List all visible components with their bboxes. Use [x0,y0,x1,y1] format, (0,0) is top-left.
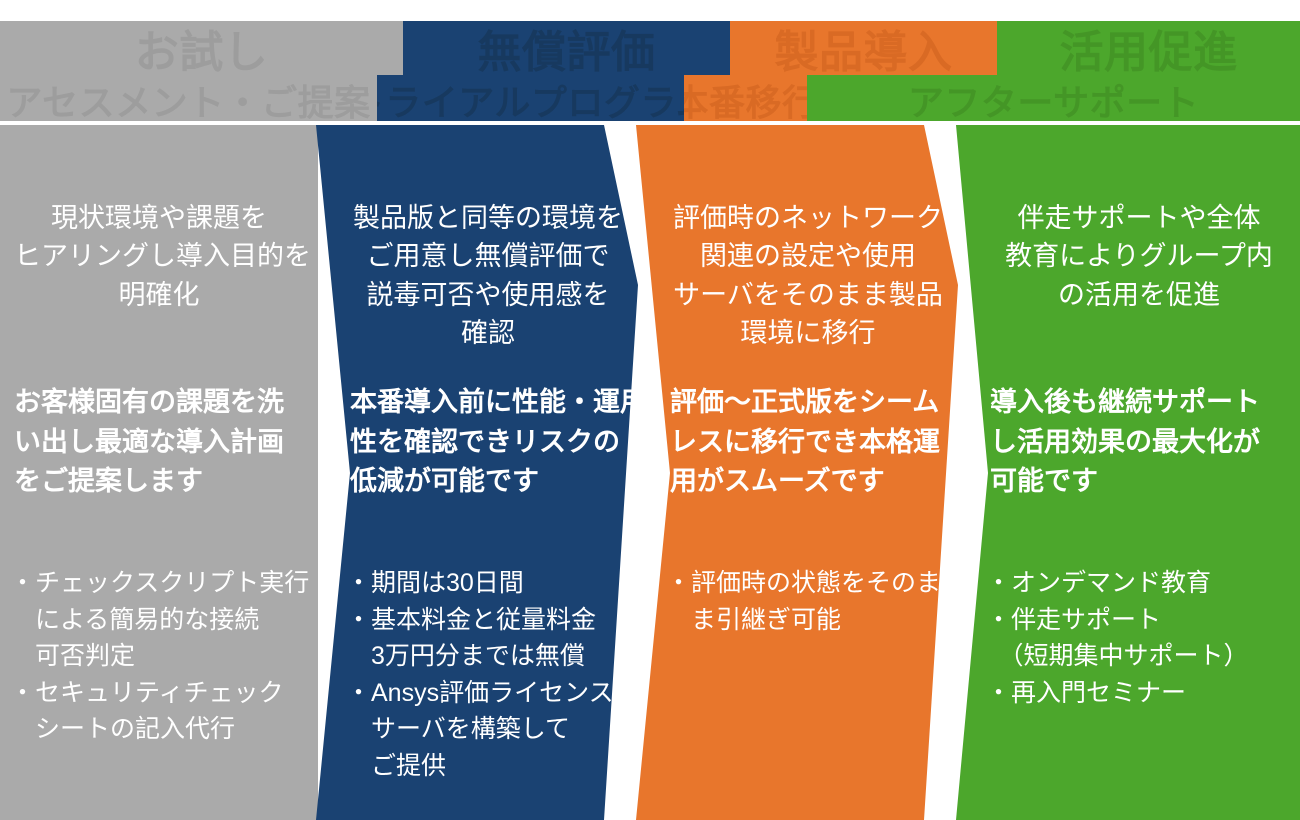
header-program-production: 本番移行 [684,75,807,125]
benefit-block: お客様固有の課題を洗 い出し最適な導入計画 をご提案します [0,383,318,502]
summary-line: 関連の設定や使用 [670,237,946,275]
benefit-block: 本番導入前に性能・運用 性を確認できリスクの 低減が可能です [316,383,638,502]
summary-block: 現状環境や課題を ヒアリングし導入目的を 明確化 [14,199,304,314]
summary-line: 評価時のネットワーク [670,199,946,237]
header-program-trial: トライアルプログラム [377,75,684,125]
benefit-line: 低減が可能です [350,462,628,502]
summary-line: サーバをそのまま製品 [670,276,946,314]
summary-line: 現状環境や課題を [14,199,304,237]
summary-line: 伴走サポートや全体 [990,199,1288,237]
summary-line: ヒアリングし導入目的を [14,237,304,275]
summary-line: 確認 [350,314,626,352]
header-stage-trial: 無償評価 [403,21,730,75]
benefit-line: 評価～正式版をシーム [670,383,948,423]
chevron-content-trial: 製品版と同等の環境を ご用意し無償評価で 説毒可否や使用感を 確認 本番導入前に… [316,125,638,820]
chevron-production-migration: 評価時のネットワーク 関連の設定や使用 サーバをそのまま製品 環境に移行 評価～… [636,125,958,820]
summary-block: 伴走サポートや全体 教育によりグループ内 の活用を促進 [990,199,1288,314]
summary-line: の活用を促進 [990,276,1288,314]
header-stage-assessment: お試し [0,21,403,75]
summary-line: 説毒可否や使用感を [350,276,626,314]
header-program-row: アセスメント・ご提案 トライアルプログラム 本番移行 アフターサポート [0,75,1300,125]
list-item: ・再入門セミナー [986,675,1292,712]
bullet-list: ・期間は30日間 ・基本料金と従量料金 3万円分までは無償 ・Ansys評価ライ… [316,565,638,784]
summary-line: 教育によりグループ内 [990,237,1288,275]
benefit-block: 導入後も継続サポート し活用効果の最大化が 可能です [956,383,1300,502]
chevron-adoption-support: 伴走サポートや全体 教育によりグループ内 の活用を促進 導入後も継続サポート し… [956,125,1300,820]
benefit-line: 可能です [990,462,1290,502]
bullet-list: ・オンデマンド教育 ・伴走サポート （短期集中サポート） ・再入門セミナー [956,565,1300,711]
diagram-canvas: お試し 無償評価 製品導入 活用促進 アセスメント・ご提案 トライアルプログラム… [0,0,1300,820]
chevron-content-production: 評価時のネットワーク 関連の設定や使用 サーバをそのまま製品 環境に移行 評価～… [636,125,958,820]
summary-line: ご用意し無償評価で [350,237,626,275]
chevron-trial: 製品版と同等の環境を ご用意し無償評価で 説毒可否や使用感を 確認 本番導入前に… [316,125,638,820]
list-item: ・評価時の状態をそのま ま引継ぎ可能 [666,565,950,638]
bullet-list: ・チェックスクリプト実行 による簡易的な接続 可否判定 ・セキュリティチェック … [0,565,318,748]
header-divider-top [0,17,1300,21]
list-item: ・オンデマンド教育 [986,565,1292,602]
header-program-adoption: アフターサポート [807,75,1300,125]
process-chevrons: 現状環境や課題を ヒアリングし導入目的を 明確化 お客様固有の課題を洗 い出し最… [0,125,1300,820]
summary-line: 製品版と同等の環境を [350,199,626,237]
benefit-line: レスに移行でき本格運 [670,423,948,463]
summary-block: 製品版と同等の環境を ご用意し無償評価で 説毒可否や使用感を 確認 [350,199,626,352]
summary-block: 評価時のネットワーク 関連の設定や使用 サーバをそのまま製品 環境に移行 [670,199,946,352]
header-stage-row: お試し 無償評価 製品導入 活用促進 [0,21,1300,75]
header-stage-production: 製品導入 [730,21,997,75]
summary-line: 環境に移行 [670,314,946,352]
list-item: ・チェックスクリプト実行 による簡易的な接続 可否判定 [10,565,310,675]
benefit-block: 評価～正式版をシーム レスに移行でき本格運 用がスムーズです [636,383,958,502]
chevron-content-adoption: 伴走サポートや全体 教育によりグループ内 の活用を促進 導入後も継続サポート し… [956,125,1300,820]
list-item: ・Ansys評価ライセンス サーバを構築して ご提供 [346,675,630,785]
list-item: ・期間は30日間 [346,565,630,602]
bullet-list: ・評価時の状態をそのま ま引継ぎ可能 [636,565,958,638]
chevron-assessment: 現状環境や課題を ヒアリングし導入目的を 明確化 お客様固有の課題を洗 い出し最… [0,125,318,820]
list-item: ・伴走サポート （短期集中サポート） [986,602,1292,675]
benefit-line: お客様固有の課題を洗 [14,383,308,423]
benefit-line: 性を確認できリスクの [350,423,628,463]
summary-line: 明確化 [14,276,304,314]
header-stage-adoption: 活用促進 [997,21,1300,75]
benefit-line: い出し最適な導入計画 [14,423,308,463]
list-item: ・基本料金と従量料金 3万円分までは無償 [346,602,630,675]
header-program-assessment: アセスメント・ご提案 [0,75,377,125]
benefit-line: 本番導入前に性能・運用 [350,383,628,423]
chevron-content-assessment: 現状環境や課題を ヒアリングし導入目的を 明確化 お客様固有の課題を洗 い出し最… [0,125,318,820]
benefit-line: し活用効果の最大化が [990,423,1290,463]
benefit-line: 用がスムーズです [670,462,948,502]
list-item: ・セキュリティチェック シートの記入代行 [10,675,310,748]
benefit-line: 導入後も継続サポート [990,383,1290,423]
benefit-line: をご提案します [14,462,308,502]
